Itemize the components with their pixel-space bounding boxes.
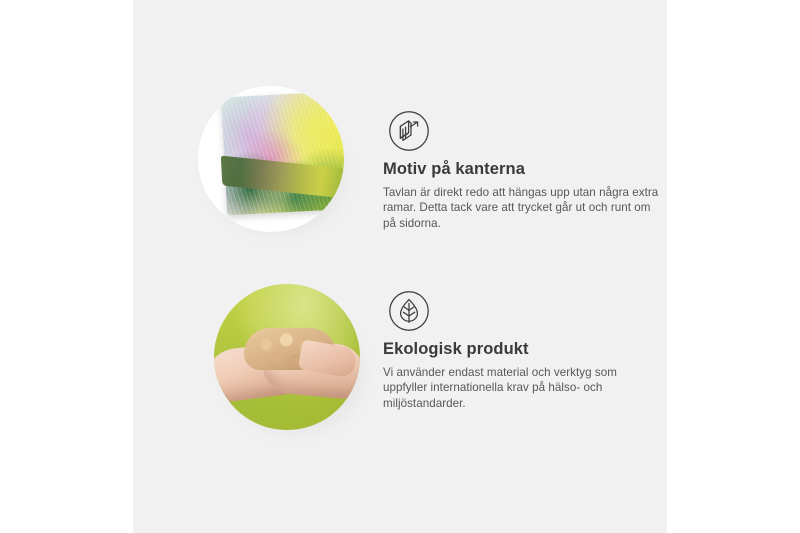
feature-text-motiv-pa-kanterna: Motiv på kanterna Tavlan är direkt redo …	[383, 160, 663, 231]
feature-title: Ekologisk produkt	[383, 340, 663, 358]
canvas-artwork-face	[221, 91, 344, 216]
feature-block-motiv-pa-kanterna: Motiv på kanterna Tavlan är direkt redo …	[133, 72, 667, 257]
feature-text-ekologisk-produkt: Ekologisk produkt Vi använder endast mat…	[383, 340, 663, 411]
hands-with-wood-chips-photo	[214, 284, 360, 430]
feature-block-ekologisk-produkt: Ekologisk produkt Vi använder endast mat…	[133, 252, 667, 437]
canvas-corner-photo	[198, 86, 344, 232]
leaf-icon	[388, 290, 430, 332]
product-feature-panel: Motiv på kanterna Tavlan är direkt redo …	[0, 0, 800, 533]
content-panel: Motiv på kanterna Tavlan är direkt redo …	[133, 0, 667, 533]
feature-title: Motiv på kanterna	[383, 160, 663, 178]
feature-description: Tavlan är direkt redo att hängas upp uta…	[383, 185, 663, 231]
canvas-wrapped-edge-icon	[388, 110, 430, 152]
canvas-texture-overlay	[221, 91, 344, 216]
feature-description: Vi använder endast material och verktyg …	[383, 365, 663, 411]
